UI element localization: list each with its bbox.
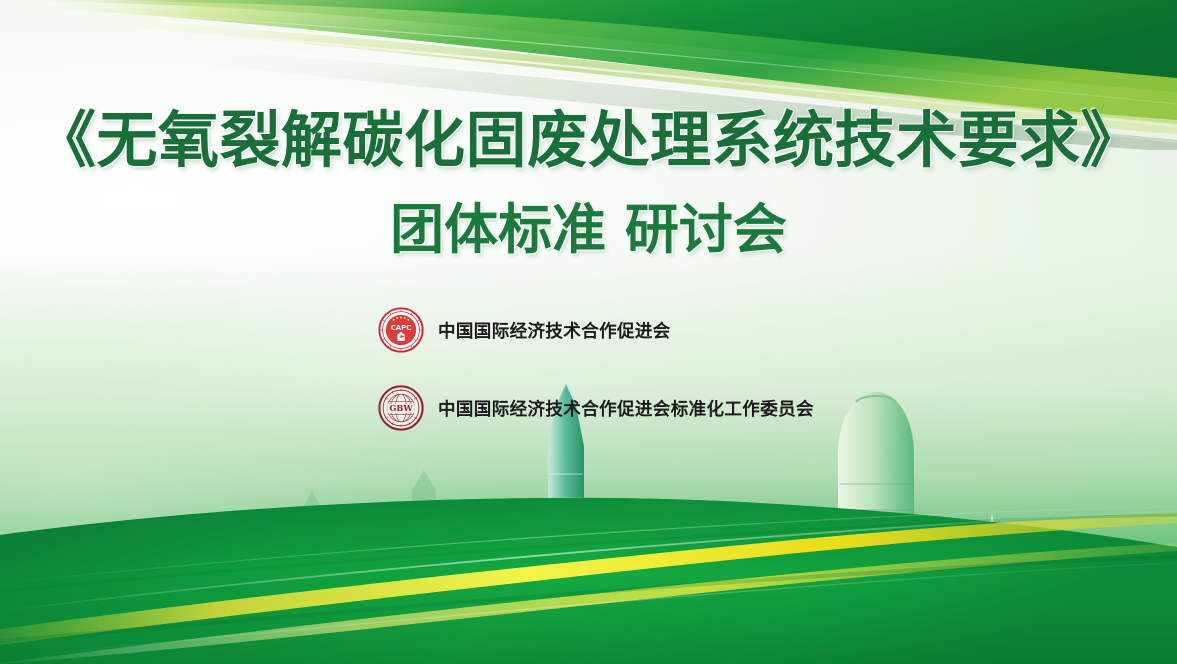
page-subtitle: 团体标准 研讨会 bbox=[0, 200, 1177, 259]
list-item: GBW 中国国际经济技术合作促进会标准化工作委员会 bbox=[378, 383, 1158, 433]
organization-name: 中国国际经济技术合作促进会标准化工作委员会 bbox=[438, 396, 814, 421]
gbw-round-seal-icon: GBW bbox=[378, 385, 424, 431]
slide-content: 《无氧裂解碳化固废处理系统技术要求》 团体标准 研讨会 bbox=[0, 0, 1177, 664]
capc-seal-text: CAPC bbox=[391, 324, 412, 332]
slide-canvas: 《无氧裂解碳化固废处理系统技术要求》 团体标准 研讨会 bbox=[0, 0, 1177, 664]
gbw-seal-text: GBW bbox=[389, 403, 413, 413]
list-item: CAPC 中国国际经济技术合作促进会 bbox=[378, 305, 1158, 355]
capc-round-seal-icon: CAPC bbox=[378, 307, 424, 353]
organization-name: 中国国际经济技术合作促进会 bbox=[438, 318, 671, 343]
organization-list: CAPC 中国国际经济技术合作促进会 bbox=[378, 305, 1158, 461]
page-title: 《无氧裂解碳化固废处理系统技术要求》 bbox=[0, 108, 1177, 174]
